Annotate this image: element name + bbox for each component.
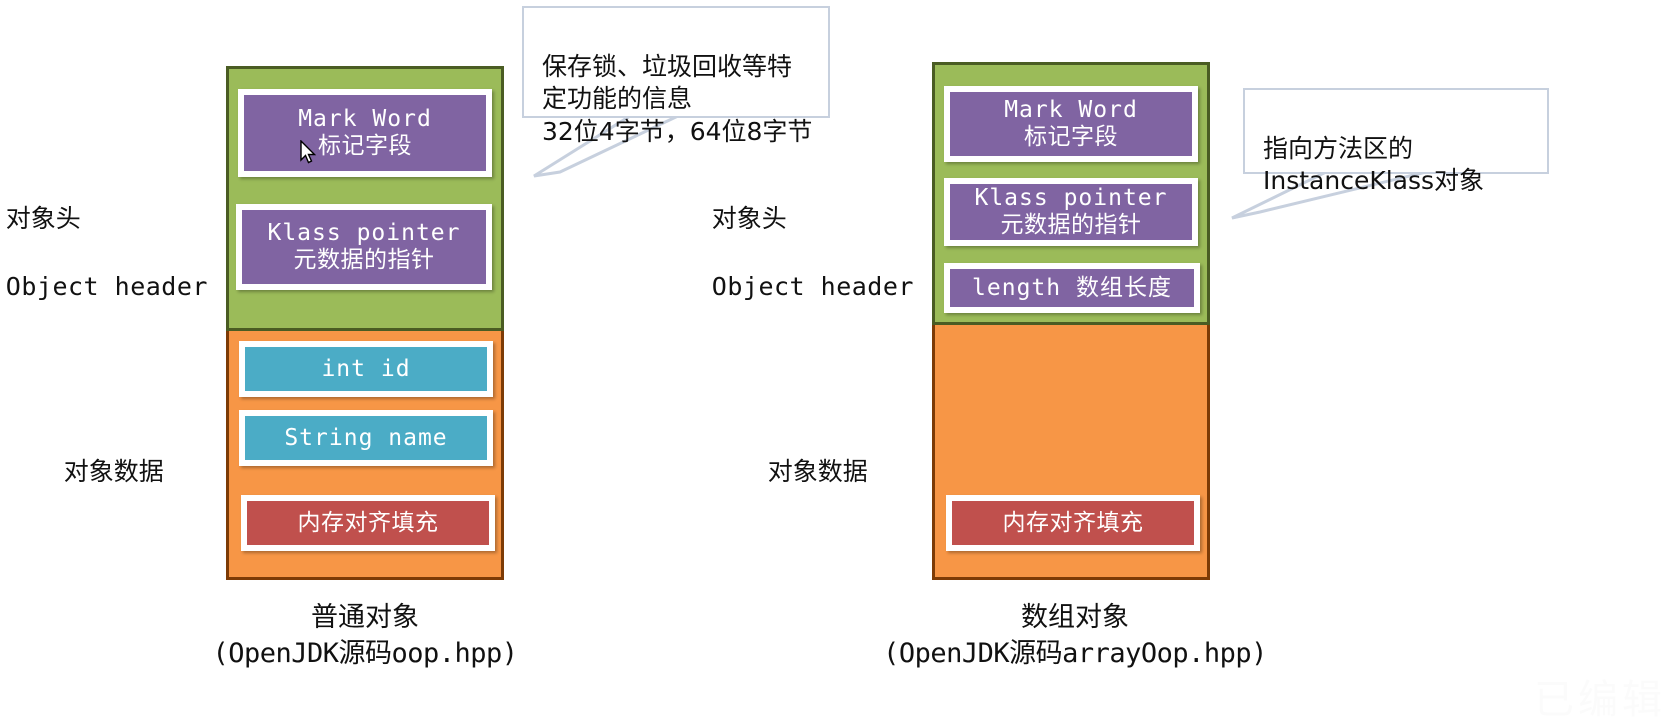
right-slot-mark-word-line1: Mark Word xyxy=(1004,97,1138,124)
left-caption-source: (OpenJDK源码oop.hpp) xyxy=(145,636,585,672)
left-slot-klass-pointer: Klass pointer 元数据的指针 xyxy=(236,204,492,290)
right-label-object-data-cn: 对象数据 xyxy=(768,457,868,486)
left-slot-padding: 内存对齐填充 xyxy=(241,495,495,551)
left-slot-padding-label: 内存对齐填充 xyxy=(298,510,439,537)
left-caption: 普通对象 (OpenJDK源码oop.hpp) xyxy=(145,600,585,671)
right-slot-length: length 数组长度 xyxy=(944,263,1200,313)
diagram-canvas: Mark Word 标记字段 Klass pointer 元数据的指针 int … xyxy=(0,0,1672,727)
right-label-object-header-en: Object header xyxy=(712,272,914,301)
left-slot-string-name-label: String name xyxy=(284,425,447,452)
left-label-object-data: 对象数据 xyxy=(36,421,236,523)
right-label-object-header-cn: 对象头 xyxy=(712,204,787,233)
mouse-cursor-icon xyxy=(300,140,318,164)
left-caption-title: 普通对象 xyxy=(145,600,585,636)
left-label-object-header-cn: 对象头 xyxy=(6,204,81,233)
left-slot-string-name: String name xyxy=(239,410,493,466)
left-slot-mark-word-line1: Mark Word xyxy=(298,106,432,133)
left-slot-mark-word: Mark Word 标记字段 xyxy=(238,89,492,177)
mark-word-callout-text: 保存锁、垃圾回收等特定功能的信息 32位4字节，64位8字节 xyxy=(542,52,812,146)
left-slot-int-id: int id xyxy=(239,341,493,397)
right-label-object-data: 对象数据 xyxy=(740,421,940,523)
left-label-object-header: 对象头 Object header xyxy=(0,168,218,339)
right-slot-length-label: length 数组长度 xyxy=(972,275,1172,302)
left-label-object-data-cn: 对象数据 xyxy=(64,457,164,486)
right-slot-padding-label: 内存对齐填充 xyxy=(1003,510,1144,537)
right-slot-mark-word-line2: 标记字段 xyxy=(1024,124,1118,151)
right-caption-title: 数组对象 xyxy=(845,600,1305,636)
right-slot-mark-word: Mark Word 标记字段 xyxy=(944,86,1198,162)
right-slot-klass-pointer-line2: 元数据的指针 xyxy=(1001,212,1142,239)
left-label-object-header-en: Object header xyxy=(6,272,208,301)
mark-word-callout: 保存锁、垃圾回收等特定功能的信息 32位4字节，64位8字节 xyxy=(522,6,830,118)
left-slot-klass-pointer-line2: 元数据的指针 xyxy=(294,247,435,274)
left-slot-int-id-label: int id xyxy=(321,356,410,383)
right-slot-padding: 内存对齐填充 xyxy=(946,495,1200,551)
right-label-object-header: 对象头 Object header xyxy=(684,168,934,339)
left-slot-klass-pointer-line1: Klass pointer xyxy=(267,220,460,247)
watermark: 已编辑 xyxy=(1534,667,1666,725)
left-slot-mark-word-line2: 标记字段 xyxy=(318,133,412,160)
right-slot-klass-pointer-line1: Klass pointer xyxy=(974,185,1167,212)
right-slot-klass-pointer: Klass pointer 元数据的指针 xyxy=(944,178,1198,246)
right-caption: 数组对象 (OpenJDK源码arrayOop.hpp) xyxy=(845,600,1305,671)
klass-pointer-callout: 指向方法区的 InstanceKlass对象 xyxy=(1243,88,1549,174)
right-caption-source: (OpenJDK源码arrayOop.hpp) xyxy=(845,636,1305,672)
klass-pointer-callout-text: 指向方法区的 InstanceKlass对象 xyxy=(1263,134,1484,196)
